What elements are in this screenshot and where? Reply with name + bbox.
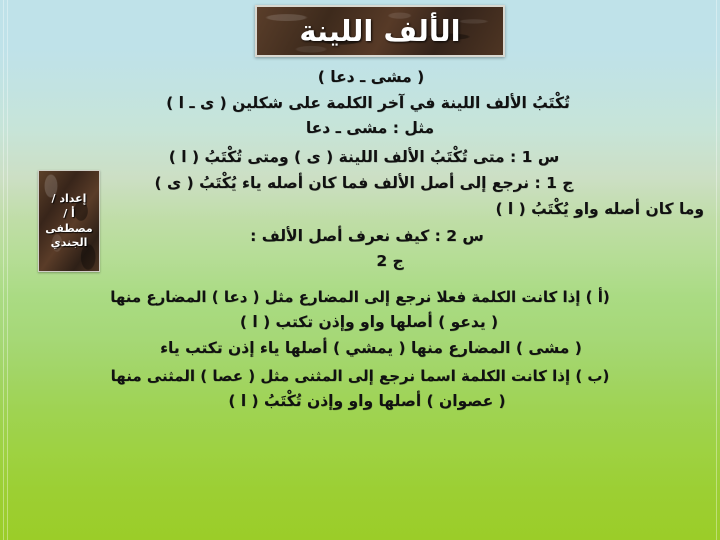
lesson-line-answer-1b: وما كان أصله واو يُكْتَبُ ( ا ) — [16, 198, 704, 222]
lesson-body: ( مشى ـ دعا ) تُكْتَبُ الألف اللينة في آ… — [0, 66, 720, 415]
lesson-line-point-b: (ب ) إذا كانت الكلمة اسما نرجع إلى المثن… — [16, 365, 704, 388]
lesson-line-question-2: س 2 : كيف نعرف أصل الألف : — [16, 225, 704, 249]
lesson-line-point-b-detail: ( عصوان ) أصلها واو وإذن تُكْتَبُ ( ا ) — [16, 390, 704, 414]
lesson-line-rule-statement: تُكْتَبُ الألف اللينة في آخر الكلمة على … — [16, 92, 704, 116]
slide-canvas: الألف اللينة إعداد / أ / مصطفى الجندي ( … — [0, 0, 720, 540]
section-spacer — [16, 274, 704, 280]
lesson-line-rule-example: مثل : مشى ـ دعا — [16, 117, 704, 141]
lesson-line-point-a-detail-2: ( مشى ) المضارع منها ( يمشي ) أصلها ياء … — [16, 337, 704, 361]
lesson-line-answer-1a: ج 1 : نرجع إلى أصل الألف فما كان أصله يا… — [16, 172, 704, 196]
lesson-line-answer-2-label: ج 2 — [16, 250, 704, 274]
title-banner: الألف اللينة — [255, 5, 505, 57]
page-title: الألف اللينة — [299, 14, 460, 48]
lesson-line-question-1: س 1 : متى تُكْتَبُ الألف اللينة ( ى ) وم… — [16, 146, 704, 170]
lesson-line-point-a: (أ ) إذا كانت الكلمة فعلا نرجع إلى المضا… — [16, 286, 704, 309]
lesson-line-examples-intro: ( مشى ـ دعا ) — [16, 66, 704, 90]
lesson-line-point-a-detail-1: ( يدعو ) أصلها واو وإذن تكتب ( ا ) — [16, 311, 704, 335]
